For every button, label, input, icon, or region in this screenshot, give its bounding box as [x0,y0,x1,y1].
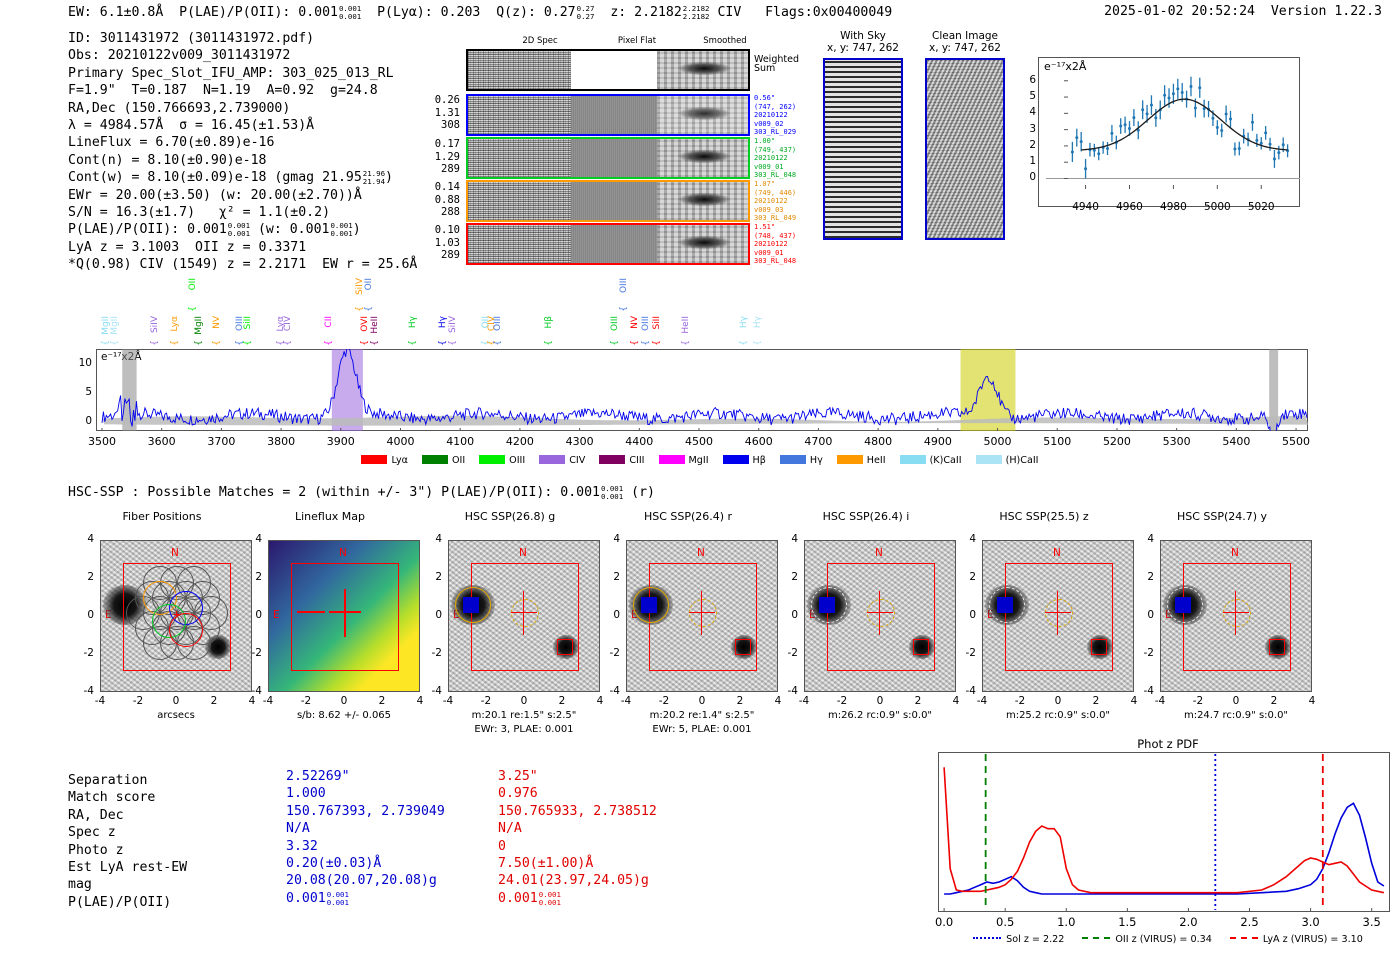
match-label: Separation [68,772,147,789]
cutout-title: Lineflux Map [240,510,420,523]
info-line: ID: 3011431972 (3011431972.pdf) [68,30,417,47]
cutout-ytick: 2 [598,571,620,583]
cutout-ytick: 0 [72,609,94,621]
cutout-title: HSC SSP(26.4) i [776,510,956,523]
spectrum-line-labels: MgII{MgII{SiIV{Lyα{OII{MgII{NV{OIII{SiII… [0,278,1400,350]
spectrum-ytick: 0 [72,415,92,427]
spectrum-line-label: NV [212,316,222,329]
spectrum-legend-item: CIV [539,455,585,466]
spectrum-legend-item: MgII [659,455,709,466]
spectrum-line-label: Hγ [408,316,418,328]
spectrum-svg [96,349,1308,431]
cutout-xtick: 0 [684,695,720,707]
legend-label: (H)CaII [1006,455,1039,466]
cutout-xtick: 2 [544,695,580,707]
photz-xtick: 2.5 [1230,915,1270,929]
cutout-ytick: -2 [1132,647,1154,659]
spectrum-xtick: 4500 [671,435,727,448]
legend-swatch [900,455,926,464]
spectrum-line-brace: { [324,340,334,346]
cutout-xtick: 0 [506,695,542,707]
line-profile-ytick: 6 [1022,74,1036,86]
cutout-ytick: -2 [420,647,442,659]
cutout-panel: Lineflux MapNE420-2-4-4-2024s/b: 8.62 +/… [240,510,450,720]
compass-n-label: N [1231,547,1239,559]
cutout-xtick: -2 [1180,695,1216,707]
spectrum-line-label: MgII [194,316,204,335]
spectrum-xtick: 5300 [1149,435,1205,448]
spectrum-xtick: 3700 [193,435,249,448]
cutout-xtick: 4 [1294,695,1330,707]
cutout-image[interactable]: NE [626,540,778,692]
match-col1-value: N/A [286,820,310,837]
match-label: RA, Dec [68,807,124,824]
cutout-title: Fiber Positions [72,510,252,523]
legend-label: Hβ [753,455,766,466]
cutout-xtick: -2 [824,695,860,707]
match-label: mag [68,876,92,893]
cutout-ytick: 0 [954,609,976,621]
clean-image-coords: x, y: 747, 262 [920,42,1010,55]
cutout-xtick: 2 [1078,695,1114,707]
with-sky-image [823,58,903,240]
photz-svg [938,752,1390,912]
line-profile-ytick: 0 [1022,171,1036,183]
cutout-panel: HSC SSP(24.7) yNE420-2-4-4-2024m:24.7 rc… [1132,510,1342,720]
legend-label: HeII [867,455,886,466]
cutout-xtick: -4 [1142,695,1178,707]
spectrum-xtick: 3900 [313,435,369,448]
info-line: λ = 4984.57Å σ = 16.45(±1.53)Å [68,117,417,134]
spectrum-xtick: 3500 [74,435,130,448]
line-profile-svg [1038,57,1300,207]
info-line: LineFlux = 6.70(±0.89)e-16 [68,134,417,151]
spectrum-legend-item: CIII [599,455,644,466]
legend-line-sample [1082,937,1110,939]
target-marker-icon: + [173,607,180,621]
spectrum-line-label: Hγ [739,316,749,328]
spectrum-xtick: 5400 [1208,435,1264,448]
header-plya: P(Lyα): 0.203 [377,5,480,20]
spectrum-ytick: 10 [72,357,92,369]
spectrum-line-brace: { [194,340,204,346]
legend-swatch [479,455,505,464]
matched-source-square [1269,639,1285,655]
cutout-xtick: 0 [1040,695,1076,707]
legend-line-sample [1230,937,1258,939]
photz-title: Phot z PDF [936,737,1400,751]
cutout-ytick: -2 [72,647,94,659]
cutout-ytick: 4 [598,533,620,545]
cutout-ytick: 2 [240,571,262,583]
spectrum-line-label: NV [630,316,640,329]
cutout-ytick: 2 [72,571,94,583]
cutout-ytick: 2 [420,571,442,583]
info-line: Cont(n) = 8.10(±0.90)e-18 [68,152,417,169]
legend-label: (K)CaII [930,455,962,466]
spectrum-line-brace: { [652,340,662,346]
cutout-image[interactable]: NE [982,540,1134,692]
spectrum-xtick: 5000 [970,435,1026,448]
matched-source-square [913,639,929,655]
legend-label: CIII [629,455,644,466]
fiber-row-1 [466,94,750,136]
info-q-line: *Q(0.98) CIV (1549) z = 2.2171 EW r = 25… [68,256,417,273]
spectrum-legend-item: Lyα [361,455,407,466]
col-title-pixelflat: Pixel Flat [592,36,682,46]
legend-label: Sol z = 2.22 [1006,934,1064,945]
with-sky-thumb: With Sky x, y: 747, 262 [818,30,908,240]
header-version: Version 1.22.3 [1271,4,1382,19]
clean-image-title: Clean Image [920,30,1010,43]
cutout-ytick: 4 [1132,533,1154,545]
spectrum-line-label: OII [364,278,374,290]
matched-source-square [819,597,835,613]
spectrum-line-brace: { [448,340,458,346]
compass-n-label: N [697,547,705,559]
header-timestamp-version: 2025-01-02 20:52:24 Version 1.22.3 [1104,4,1382,19]
spectrum-line-label: Hβ [544,316,554,329]
cutout-xlabel: arcsecs [100,710,252,721]
spectrum-ytick: 5 [72,386,92,398]
spectrum-legend-item: OII [422,455,465,466]
cutout-xtick: 2 [196,695,232,707]
fiber-left-values: 0.17 1.29 289 [428,138,460,176]
match-col2-value: 24.01(23.97,24.05)g [498,872,649,889]
header-summary-line: EW: 6.1±0.8Å P(LAE)/P(OII): 0.0010.0010.… [68,4,892,20]
spectrum-legend-item: HeII [837,455,886,466]
spectrum-line-label: OVI [360,316,370,332]
spectrum-line-brace: { [170,340,180,346]
cutout-caption-1: m:20.1 re:1.5" s:2.5" [424,710,624,721]
spectrum-line-label: OII [188,278,198,290]
match-label: Spec z [68,824,116,841]
legend-swatch [976,455,1002,464]
clean-image-image [925,58,1005,240]
cutout-ytick: 0 [598,609,620,621]
spectrum-xtick: 4600 [731,435,787,448]
header-ew: EW: 6.1±0.8Å [68,5,163,20]
info-ewr: EWr = 20.00(±3.50) (w: 20.00(±2.70))Å [68,187,417,204]
fiber-left-values: 0.26 1.31 308 [428,94,460,132]
legend-label: MgII [689,455,709,466]
spectrum-line-brace: { [544,340,554,346]
spectrum-legend-item: Hγ [780,455,823,466]
fiber-row-3 [466,180,750,222]
with-sky-coords: x, y: 747, 262 [818,42,908,55]
spectrum-xtick: 4100 [432,435,488,448]
info-line: Obs: 20210122v009_3011431972 [68,47,417,64]
legend-label: Lyα [391,455,407,466]
cutout-xtick: -4 [964,695,1000,707]
fiber-meta-2: 1.00" (749, 437) 20210122 v009_01 303_RL… [754,137,796,180]
fiber-left-values: 0.10 1.03 289 [428,224,460,262]
cutout-ytick: 4 [420,533,442,545]
cutout-xtick: 0 [326,695,362,707]
cutout-xtick: -4 [250,695,286,707]
cutout-xtick: -4 [786,695,822,707]
spectrum-xtick: 3600 [134,435,190,448]
legend-swatch [361,455,387,464]
cutout-title: HSC SSP(26.8) g [420,510,600,523]
spectrum-line-label: CII [324,316,334,328]
spectrum-plot: e⁻¹⁷x2Å [96,349,1308,431]
info-snr: S/N = 16.3(±1.7) χ² = 1.1(±0.2) [68,204,417,221]
spectrum-legend-item: OIII [479,455,525,466]
cutout-caption-1: m:26.2 rc:0.9" s:0.0" [780,710,980,721]
compass-n-label: N [339,547,347,559]
info-redshifts: LyA z = 3.1003 OII z = 0.3371 [68,239,417,256]
line-profile-xtick: 4960 [1111,201,1147,213]
info-line: RA,Dec (150.766693,2.739000) [68,100,417,117]
photz-legend: Sol z = 2.22OII z (VIRUS) = 0.34LyA z (V… [936,934,1400,945]
legend-swatch [780,455,806,464]
header-plae-lo: 0.001 [339,13,361,21]
match-col1-value: 2.52269" [286,768,350,785]
match-col1-value: 1.000 [286,785,326,802]
match-col1-value: 20.08(20.07,20.08)g [286,872,437,889]
line-profile-xtick: 4940 [1068,201,1104,213]
weighted-sum-row [466,49,750,91]
spectrum-line-brace: { [630,340,640,346]
fiber-meta-4: 1.51" (748, 437) 20210122 v009_01 303_RL… [754,223,796,266]
line-profile-ytick: 4 [1022,106,1036,118]
spectrum-line-brace: { [364,306,374,312]
compass-n-label: N [1053,547,1061,559]
cutout-xtick: 2 [900,695,936,707]
cutout-title: HSC SSP(26.4) r [598,510,778,523]
cutout-image[interactable]: NE [268,540,420,692]
spectrum-line-label: CIV [283,316,293,331]
fiber-row-4 [466,223,750,265]
cutout-xtick: 2 [1256,695,1292,707]
cutout-image[interactable]: NE [448,540,600,692]
spectrum-line-label: Hγ [438,316,448,328]
matched-source-square [997,597,1013,613]
photz-plot [938,752,1390,912]
spectrum-line-brace: { [150,340,160,346]
spectrum-line-brace: { [370,340,380,346]
header-flags: Flags:0x00400049 [765,5,892,20]
match-col2-value: 0 [498,838,506,855]
line-profile-ytick: 5 [1022,90,1036,102]
spectrum-line-label: OIII [619,278,629,293]
match-col1-value: 150.767393, 2.739049 [286,803,445,820]
legend-label: OIII [509,455,525,466]
header-datetime: 2025-01-02 20:52:24 [1104,4,1255,19]
match-col1-value: 0.20(±0.03)Å [286,855,381,872]
spectrum-xtick: 5500 [1268,435,1324,448]
spectrum-legend-item: Hβ [723,455,766,466]
spectrum-line-brace: { [360,340,370,346]
spectrum-line-brace: { [610,340,620,346]
spectrum-line-label: SiIV [448,316,458,333]
cutout-caption-1: s/b: 8.62 +/- 0.065 [244,710,444,721]
spectrum-legend-item: (K)CaII [900,455,962,466]
spectrum-line-brace: { [188,306,198,312]
spectrum-line-label: Hγ [753,316,763,328]
photz-legend-item: OII z (VIRUS) = 0.34 [1082,934,1212,945]
photz-xtick: 3.5 [1352,915,1392,929]
spectrum-xtick: 4400 [611,435,667,448]
cutout-xtick: -2 [646,695,682,707]
cutout-caption-2: EWr: 5, PLAE: 0.001 [602,724,802,735]
spectrum-line-label: SiIV [150,316,160,333]
line-profile-xtick: 4980 [1155,201,1191,213]
cutout-xtick: 0 [158,695,194,707]
spectrum-line-label: OIII [641,316,651,331]
spectrum-xtick: 4200 [492,435,548,448]
legend-swatch [837,455,863,464]
cutout-xtick: -2 [468,695,504,707]
compass-n-label: N [519,547,527,559]
match-col2-value: 3.25" [498,768,538,785]
line-profile-ytick: 1 [1022,155,1036,167]
match-label: Match score [68,789,155,806]
legend-label: LyA z (VIRUS) = 3.10 [1263,934,1363,945]
match-label: Photo z [68,842,124,859]
spectrum-line-brace: { [438,340,448,346]
cutout-image[interactable]: NE [1160,540,1312,692]
line-profile-ytick: 3 [1022,123,1036,135]
match-col2-value: 150.765933, 2.738512 [498,803,657,820]
spectrum-line-label: MgII [110,316,120,335]
match-col1-value: 3.32 [286,838,318,855]
spectrum-line-label: SiII [652,316,662,330]
hsc-header: HSC-SSP : Possible Matches = 2 (within +… [68,484,655,500]
legend-swatch [422,455,448,464]
spectrum-line-brace: { [681,340,691,346]
line-profile-plot: e⁻¹⁷x2Å [1038,57,1300,207]
spectrum-line-label: HeII [681,316,691,334]
legend-swatch [539,455,565,464]
info-plae: P(LAE)/P(OII): 0.0010.0010.001 (w: 0.001… [68,221,417,238]
header-civ: CIV [717,5,741,20]
legend-label: OII z (VIRUS) = 0.34 [1115,934,1212,945]
spectrum-line-label: HeII [370,316,380,334]
header-qz: Q(z): 0.27 [496,5,575,20]
compass-n-label: N [875,547,883,559]
crosshair-h2 [297,611,325,613]
weighted-sum-label: Weighted Sum [754,56,799,73]
legend-swatch [723,455,749,464]
cutout-caption-2: EWr: 3, PLAE: 0.001 [424,724,624,735]
match-col2-plae: 0.0010.0010.001 [498,890,561,907]
spectrum-xtick: 4000 [372,435,428,448]
spectrum-xtick: 5100 [1029,435,1085,448]
fiber-left-values: 0.14 0.88 288 [428,181,460,219]
cutout-xtick: 2 [722,695,758,707]
spectrum-xtick: 4900 [910,435,966,448]
matched-source-square [463,597,479,613]
fiber-row-2 [466,137,750,179]
legend-swatch [659,455,685,464]
matched-source-square [1175,597,1191,613]
cutout-ytick: 4 [72,533,94,545]
cutout-xtick: -4 [430,695,466,707]
crosshair-v [523,591,524,635]
matched-source-square [1091,639,1107,655]
line-profile-xtick: 5000 [1199,201,1235,213]
match-table: Separation Match score RA, Dec Spec z Ph… [68,772,728,912]
matched-source-square [641,597,657,613]
line-profile-xtick: 5020 [1243,201,1279,213]
with-sky-title: With Sky [818,30,908,43]
detection-info-block: ID: 3011431972 (3011431972.pdf) Obs: 202… [68,30,417,274]
cutout-xtick: -4 [608,695,644,707]
legend-label: CIV [569,455,585,466]
cutout-title: HSC SSP(25.5) z [954,510,1134,523]
spectrum-legend: LyαOIIOIIICIVCIIIMgIIHβHγHeII(K)CaII(H)C… [0,455,1400,466]
spectrum-legend-item: (H)CaII [976,455,1039,466]
crosshair-v [344,589,346,637]
compass-e-label: E [273,609,280,621]
cutout-xtick: -4 [82,695,118,707]
spectrum-line-label: OIII [493,316,503,331]
matched-source-square [557,639,573,655]
matched-source-square [735,639,751,655]
info-cont-w: Cont(w) = 8.10(±0.09)e-18 (gmag 21.9521.… [68,169,417,186]
match-col2-value: N/A [498,820,522,837]
cutout-image[interactable]: NE+ [100,540,252,692]
spectrum-xtick: 4800 [850,435,906,448]
col-title-smoothed: Smoothed [680,36,770,46]
cutout-xtick: 0 [862,695,898,707]
crosshair-v [1057,591,1058,635]
match-col2-value: 0.976 [498,785,538,802]
header-z-lo: 2.2182 [683,13,710,21]
crosshair-v [879,591,880,635]
header-z: z: 2.2182 [610,5,681,20]
cutout-title: HSC SSP(24.7) y [1132,510,1312,523]
cutout-ytick: 0 [1132,609,1154,621]
cutout-ytick: 4 [240,533,262,545]
spectrum-line-label: Lyα [170,316,180,331]
info-line: Primary Spec_Slot_IFU_AMP: 303_025_013_R… [68,65,417,82]
cutout-caption-1: m:25.2 rc:0.9" s:0.0" [958,710,1158,721]
cutout-xtick: 0 [1218,695,1254,707]
photz-xtick: 0.0 [924,915,964,929]
legend-line-sample [973,937,1001,939]
legend-label: OII [452,455,465,466]
legend-label: Hγ [810,455,823,466]
header-plae: P(LAE)/P(OII): 0.001 [179,5,338,20]
cutout-xtick: -2 [1002,695,1038,707]
spectrum-xtick: 4700 [790,435,846,448]
crosshair-v [1235,591,1236,635]
line-profile-ytick: 2 [1022,139,1036,151]
cutout-caption-1: m:24.7 rc:0.9" s:0.0" [1136,710,1336,721]
cutout-ytick: 4 [776,533,798,545]
clean-image-thumb: Clean Image x, y: 747, 262 [920,30,1010,240]
cutout-ytick: 0 [776,609,798,621]
match-label: Est LyA rest-EW [68,859,187,876]
cutout-row: Fiber PositionsNE+420-2-4-4-2024arcsecsL… [0,510,1400,730]
cutout-ytick: 0 [420,609,442,621]
fiber-meta-3: 1.07" (749, 446) 20210122 v009_03 303_RL… [754,180,796,223]
legend-swatch [599,455,625,464]
photz-legend-item: Sol z = 2.22 [973,934,1064,945]
crosshair-v [701,591,702,635]
spectrum-line-brace: { [641,340,651,346]
cutout-ytick: -2 [954,647,976,659]
cutout-image[interactable]: NE [804,540,956,692]
spectrum-line-brace: { [243,340,253,346]
cutout-caption-1: m:20.2 re:1.4" s:2.5" [602,710,802,721]
cutout-ytick: -2 [240,647,262,659]
photz-xtick: 1.0 [1046,915,1086,929]
photz-legend-item: LyA z (VIRUS) = 3.10 [1230,934,1363,945]
